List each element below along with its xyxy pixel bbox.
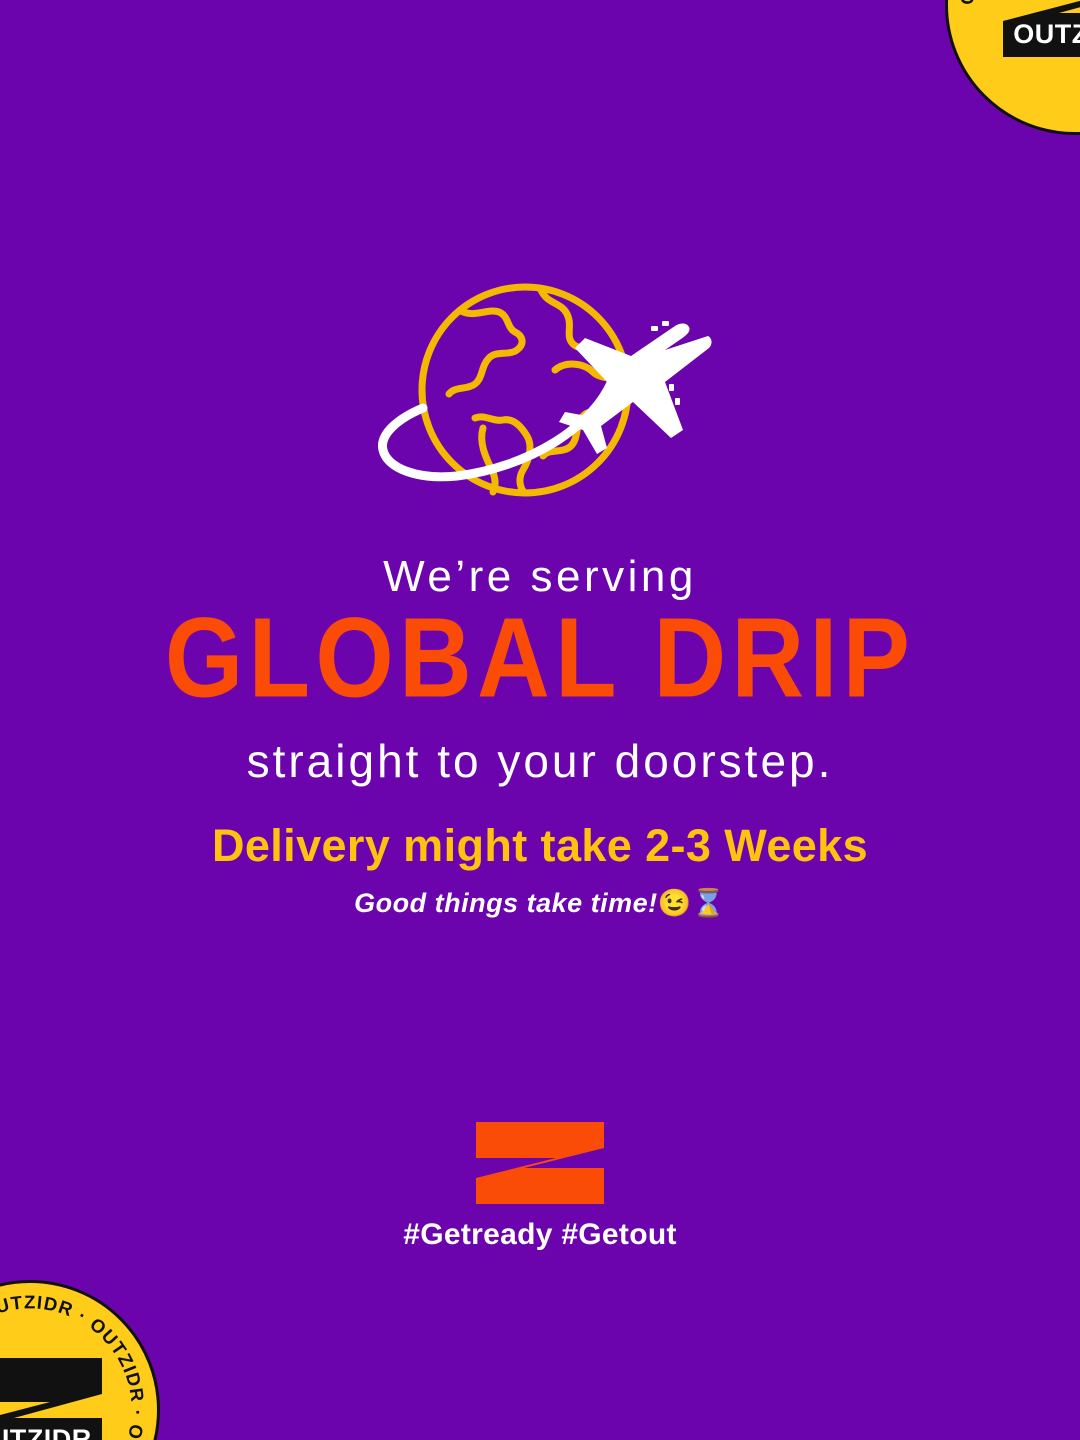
page-title: GLOBAL DRIP — [0, 600, 1080, 719]
delivery-estimate-text: Delivery might take 2-3 Weeks — [0, 820, 1080, 872]
outzidr-z-mark-icon: OUTZIDR — [999, 0, 1080, 61]
outzidr-z-mark-icon: OUTZIDR — [0, 1354, 106, 1440]
headline-eyebrow: We’re serving — [0, 552, 1080, 601]
headline-subtitle: straight to your doorstep. — [0, 736, 1080, 788]
outzidr-z-logo-icon — [476, 1122, 604, 1204]
outzidr-seal-top-right: OUTZIDR · OUTZIDR · OUTZIDR · OUTZIDR · … — [945, 0, 1080, 135]
delivery-subnote-text: Good things take time! — [354, 888, 658, 918]
seal-core-top-right: OUTZIDR — [999, 0, 1080, 61]
globe-airplane-icon — [365, 278, 715, 508]
airplane-icon — [559, 321, 712, 454]
footer-brand-block: #Getready #Getout — [0, 1122, 1080, 1252]
brand-z-mark — [476, 1122, 604, 1204]
wink-hourglass-emoji: 😉⌛ — [658, 888, 726, 918]
seal-core-label: OUTZIDR — [1013, 19, 1080, 49]
seal-core-bottom-left: OUTZIDR — [0, 1354, 106, 1440]
headline-block: We’re serving GLOBAL DRIP straight to yo… — [0, 552, 1080, 788]
delivery-subnote: Good things take time!😉⌛ — [0, 888, 1080, 919]
seal-core-label: OUTZIDR — [0, 1424, 92, 1440]
brand-hashtags: #Getready #Getout — [0, 1218, 1080, 1252]
outzidr-seal-bottom-left: OUTZIDR · OUTZIDR · OUTZIDR · OUTZIDR · … — [0, 1280, 160, 1440]
globe-airplane-artwork — [365, 278, 715, 508]
delivery-note-block: Delivery might take 2-3 Weeks Good thing… — [0, 820, 1080, 919]
promo-poster: OUTZIDR · OUTZIDR · OUTZIDR · OUTZIDR · … — [0, 0, 1080, 1440]
